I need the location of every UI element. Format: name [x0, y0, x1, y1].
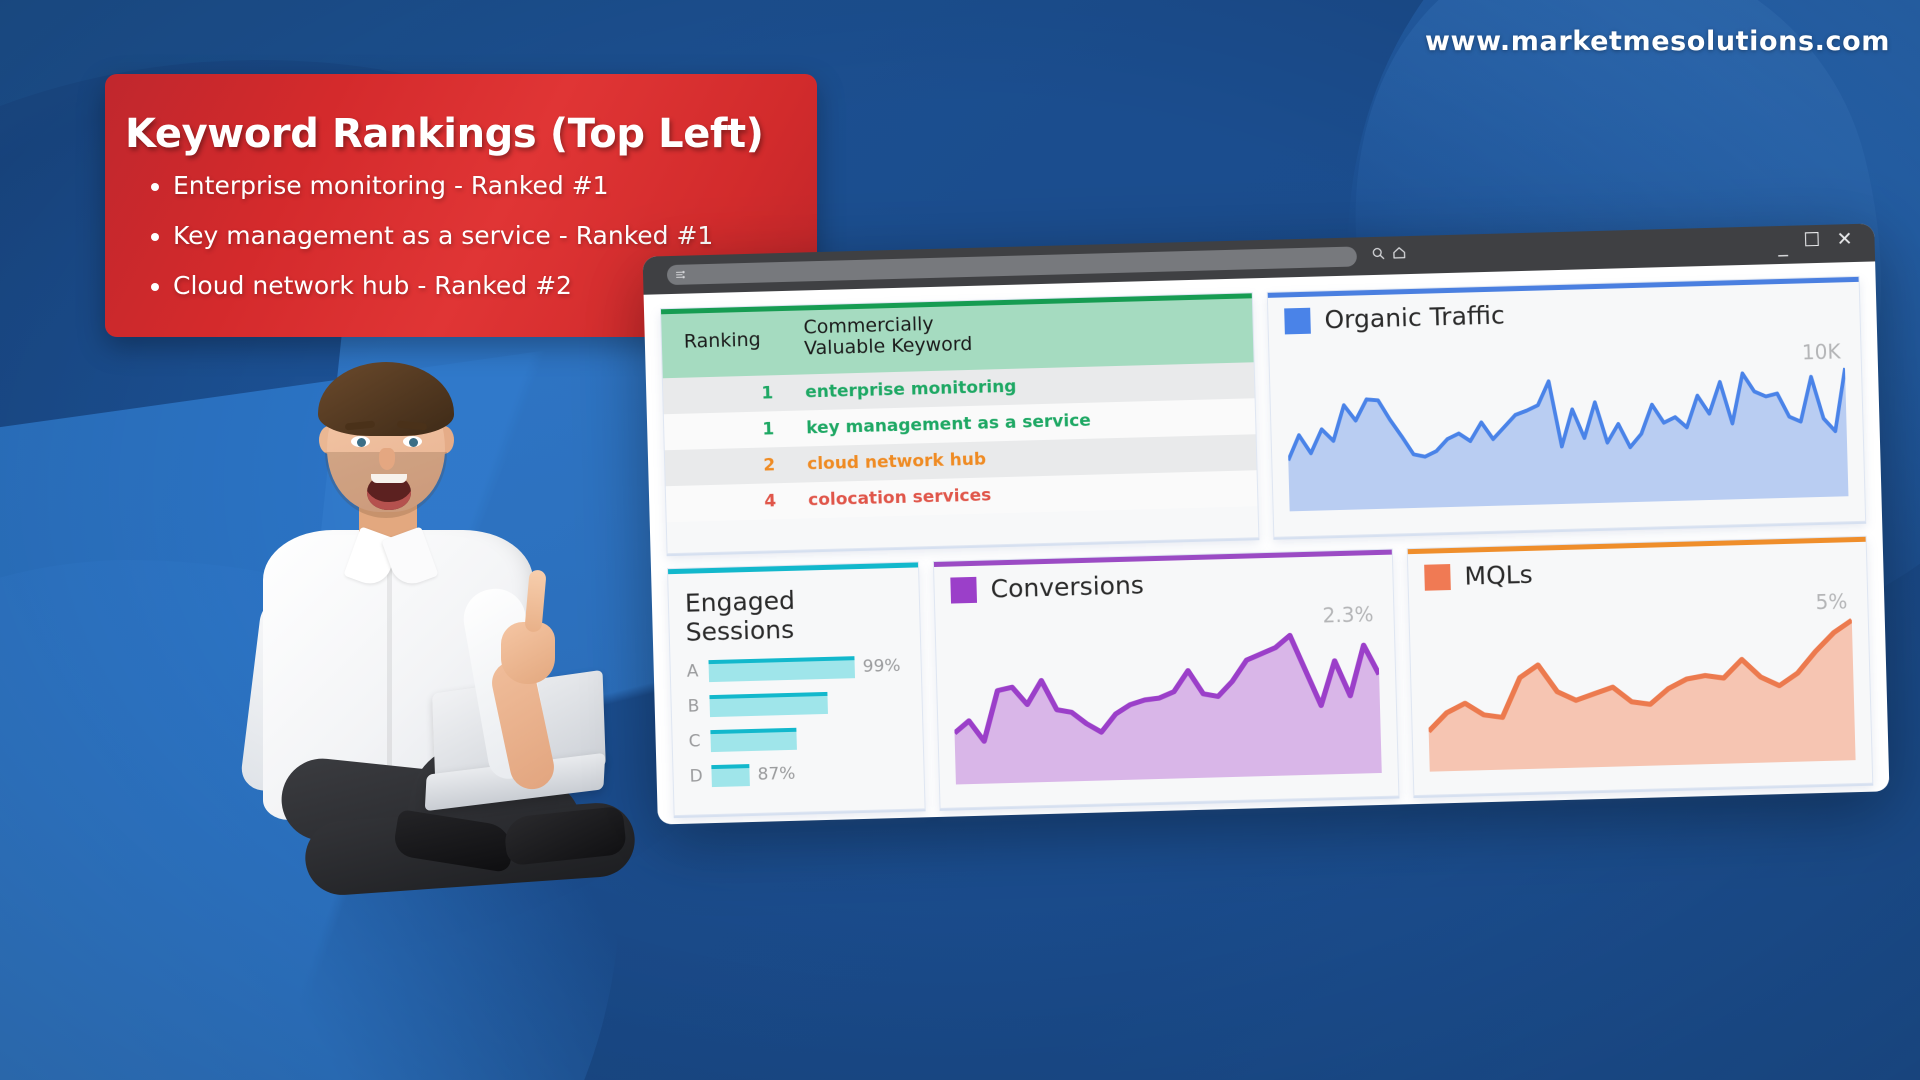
browser-nav-icons: [1371, 245, 1407, 261]
keyword-ranking-card: Ranking Commercially Valuable Keyword 1 …: [660, 292, 1259, 554]
close-button[interactable]: ✕: [1836, 230, 1852, 249]
person-shirt-placket: [387, 560, 392, 780]
column-header-keyword-line2: Valuable Keyword: [804, 333, 973, 360]
home-icon[interactable]: [1392, 245, 1407, 260]
sessions-card-title: Engaged Sessions: [685, 583, 904, 647]
page-title: Keyword Rankings (Top Left): [125, 112, 779, 156]
search-icon[interactable]: [1371, 246, 1386, 261]
bar-label: B: [687, 696, 702, 716]
person-teeth: [371, 474, 407, 483]
organic-traffic-sparkline: [1286, 360, 1848, 511]
conversions-sparkline: [952, 623, 1382, 784]
cell-rank: 1: [663, 374, 796, 414]
traffic-card-header: Organic Traffic: [1284, 291, 1844, 335]
engaged-sessions-card: Engaged Sessions A 99%: [667, 561, 926, 816]
column-header-ranking: Ranking: [661, 306, 795, 378]
legend-swatch-icon: [950, 576, 977, 603]
organic-traffic-card: Organic Traffic 10K: [1267, 276, 1866, 538]
legend-swatch-icon: [1284, 307, 1311, 334]
conversions-card: Conversions 2.3%: [933, 549, 1400, 809]
bar-track: [708, 656, 855, 682]
bar-label: A: [687, 661, 702, 681]
site-url: www.marketmesolutions.com: [1425, 26, 1890, 57]
cell-rank: 1: [664, 410, 797, 450]
bar-row: C: [688, 725, 907, 753]
conversions-card-header: Conversions: [950, 564, 1377, 605]
bar-row: B: [687, 690, 906, 718]
browser-viewport: Ranking Commercially Valuable Keyword 1 …: [644, 261, 1890, 824]
person-pupil-left: [357, 438, 366, 447]
conversions-accent-bar: [934, 550, 1392, 567]
bar-value: 99%: [862, 656, 900, 677]
person-photo: [175, 360, 705, 880]
person-pupil-right: [409, 438, 418, 447]
bar-row: A 99%: [686, 655, 905, 683]
bar-track: [711, 764, 750, 787]
traffic-card-title: Organic Traffic: [1324, 300, 1505, 334]
maximize-button[interactable]: ☐: [1803, 231, 1821, 250]
person-hand: [501, 622, 555, 684]
bar-track: [709, 692, 828, 717]
mqls-card-header: MQLs: [1424, 551, 1851, 592]
bar-value: 87%: [757, 764, 795, 785]
mqls-card-title: MQLs: [1464, 560, 1533, 591]
bar-label: D: [689, 766, 704, 786]
mqls-sparkline: [1426, 610, 1856, 771]
window-controls: _ ☐ ✕: [1778, 230, 1853, 251]
cell-rank: 4: [666, 482, 799, 522]
list-item: Enterprise monitoring - Ranked #1: [125, 172, 779, 201]
conversions-chart: [952, 623, 1382, 784]
person-nose: [379, 448, 395, 470]
keyword-ranking-table: Ranking Commercially Valuable Keyword 1 …: [661, 293, 1258, 521]
mqls-chart: [1426, 610, 1856, 771]
mqls-card: MQLs 5%: [1407, 536, 1874, 796]
legend-swatch-icon: [1424, 564, 1451, 591]
tune-icon: [675, 269, 687, 281]
sessions-accent-bar: [668, 562, 918, 574]
bar-row: D 87%: [689, 760, 908, 788]
bar-label: C: [688, 731, 703, 751]
slide-canvas: www.marketmesolutions.com Keyword Rankin…: [0, 0, 1920, 1080]
bar-track: [710, 728, 797, 752]
list-item: Key management as a service - Ranked #1: [125, 222, 779, 251]
person-hair: [318, 362, 454, 436]
minimize-button[interactable]: _: [1778, 237, 1788, 256]
mqls-accent-bar: [1408, 537, 1866, 554]
dashboard: Ranking Commercially Valuable Keyword 1 …: [660, 276, 1873, 808]
cell-rank: 2: [665, 446, 798, 486]
sessions-bar-chart: A 99% B: [686, 655, 907, 788]
table-body: 1 enterprise monitoring 1 key management…: [663, 362, 1258, 522]
browser-window: _ ☐ ✕ Ranking Commercially: [643, 223, 1890, 824]
conversions-card-title: Conversions: [990, 570, 1144, 603]
dashboard-bottom-row: Engaged Sessions A 99%: [667, 536, 1873, 816]
organic-traffic-chart: [1286, 360, 1848, 511]
